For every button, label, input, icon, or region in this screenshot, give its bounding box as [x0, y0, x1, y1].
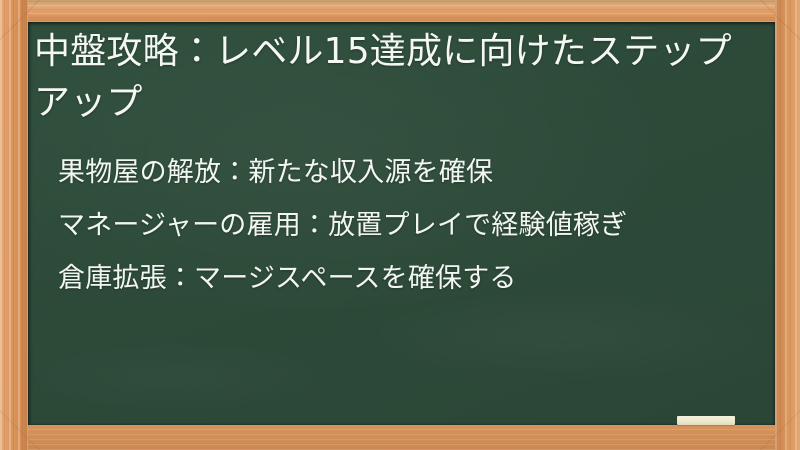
chalk-stick-icon — [677, 416, 735, 425]
slide-canvas: 中盤攻略：レベル15達成に向けたステップアップ 果物屋の解放：新たな収入源を確保… — [0, 0, 800, 450]
blackboard-surface: 中盤攻略：レベル15達成に向けたステップアップ 果物屋の解放：新たな収入源を確保… — [28, 22, 775, 425]
frame-rail-right — [775, 0, 800, 450]
bullet-item: 果物屋の解放：新たな収入源を確保 — [58, 146, 758, 199]
bullet-list: 果物屋の解放：新たな収入源を確保 マネージャーの雇用：放置プレイで経験値稼ぎ 倉… — [58, 146, 758, 305]
bullet-item: 倉庫拡張：マージスペースを確保する — [58, 252, 758, 305]
slide-title: 中盤攻略：レベル15達成に向けたステップアップ — [34, 26, 764, 128]
frame-rail-top — [0, 0, 800, 22]
slide-content: 中盤攻略：レベル15達成に向けたステップアップ 果物屋の解放：新たな収入源を確保… — [28, 22, 775, 425]
bullet-item: マネージャーの雇用：放置プレイで経験値稼ぎ — [58, 199, 758, 252]
frame-rail-bottom — [0, 424, 800, 450]
frame-rail-left — [0, 0, 28, 450]
